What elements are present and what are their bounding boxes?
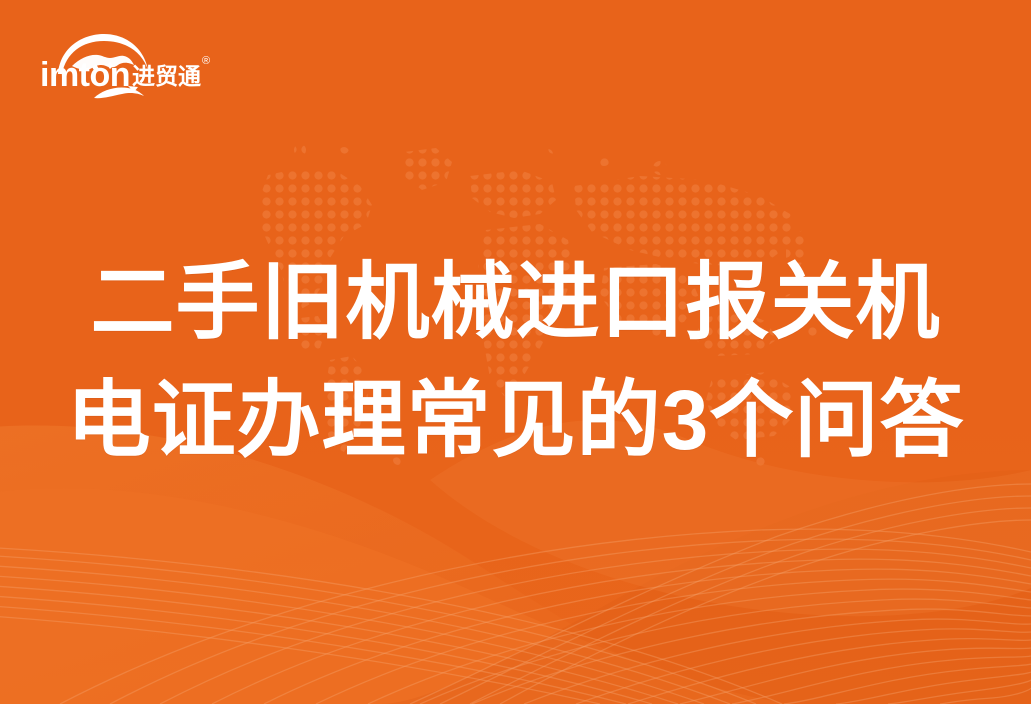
trademark-symbol: ® [202, 55, 210, 67]
brand-logo[interactable]: imton 进贸通 ® [36, 26, 226, 106]
promo-banner: imton 进贸通 ® 二手旧机械进口报关机 电证办理常见的3个问答 [0, 0, 1031, 704]
headline-line-1: 二手旧机械进口报关机 [0, 243, 1031, 361]
page-title: 二手旧机械进口报关机 电证办理常见的3个问答 [0, 243, 1031, 479]
logo-wordmark: imton [40, 56, 130, 94]
headline-line-2: 电证办理常见的3个问答 [0, 361, 1031, 479]
logo-chinese-name: 进贸通 [132, 63, 201, 89]
